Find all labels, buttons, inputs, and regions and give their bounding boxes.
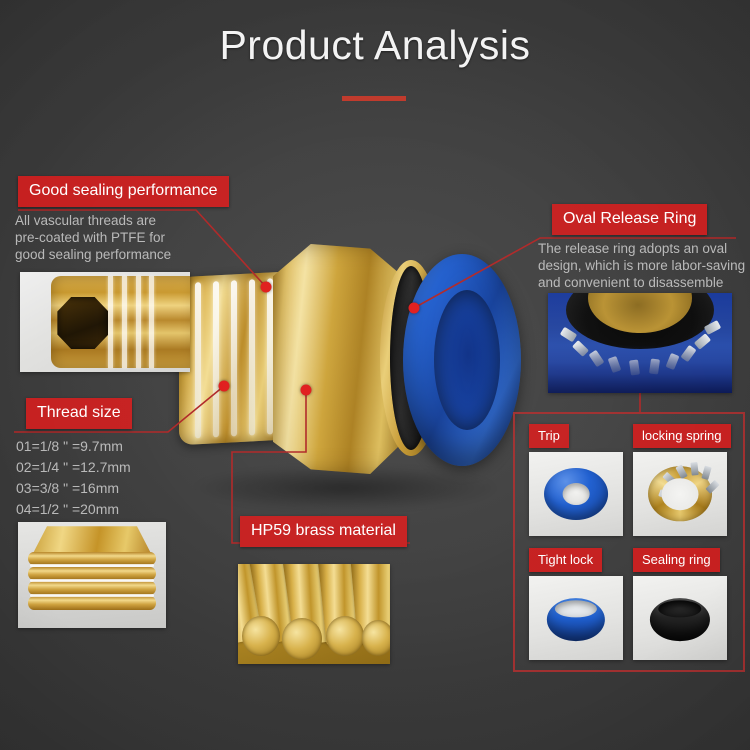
page-title: Product Analysis [0,22,750,69]
photo-part-locking-spring [633,452,727,536]
photo-part-tight-lock [529,576,623,660]
badge-part-sealing-ring: Sealing ring [633,548,720,572]
badge-thread-size: Thread size [26,398,132,429]
callout-dot-sealing [261,282,272,293]
callout-dot-release-ring [409,303,420,314]
parts-breakdown-panel: Trip locking spring Tight lock Sealing r… [513,412,745,672]
photo-threaded-nut [18,522,166,628]
badge-part-tight-lock: Tight lock [529,548,602,572]
photo-part-sealing-ring [633,576,727,660]
product-drop-shadow [195,466,495,510]
callout-dot-material [301,385,312,396]
text-good-sealing-performance: All vascular threads are pre-coated with… [15,212,225,263]
photo-release-ring-closeup [548,293,732,393]
text-thread-size-list: 01=1/8 " =9.7mm 02=1/4 " =12.7mm 03=3/8 … [16,436,226,520]
text-oval-release-ring: The release ring adopts an oval design, … [538,240,750,291]
badge-good-sealing-performance: Good sealing performance [18,176,229,207]
callout-dot-thread-size [219,381,230,392]
badge-hp59-brass-material: HP59 brass material [240,516,407,547]
badge-oval-release-ring: Oval Release Ring [552,204,707,235]
title-underline-rule [342,96,406,101]
product-blue-release-ring [403,254,521,466]
badge-part-trip: Trip [529,424,569,448]
badge-part-locking-spring: locking spring [633,424,731,448]
infographic-canvas: Product Analysis Good sealing perfo [0,0,750,750]
photo-brass-bars [238,564,390,664]
photo-hex-socket-thread [20,272,190,372]
photo-part-trip [529,452,623,536]
